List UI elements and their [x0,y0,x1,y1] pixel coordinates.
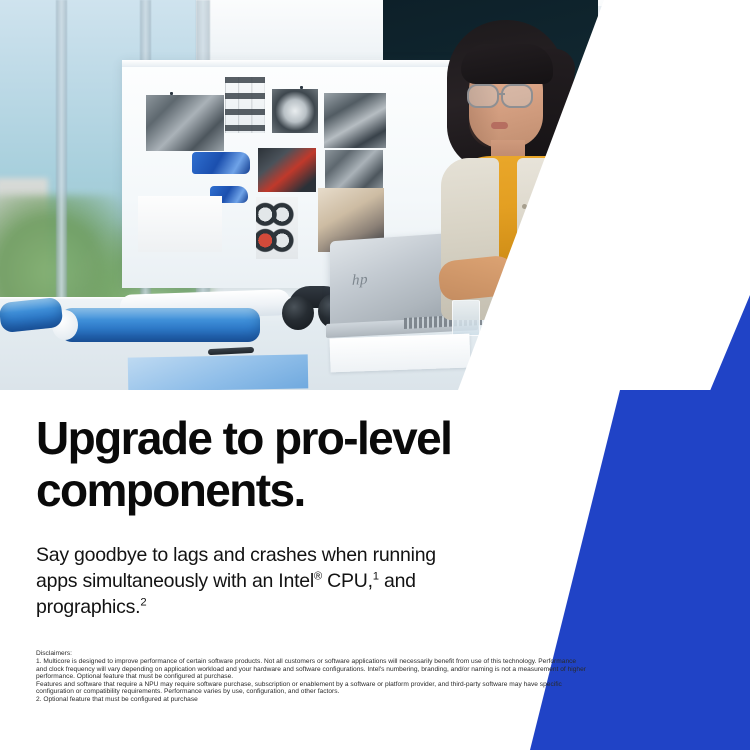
disclaimers-block: Disclaimers: 1. Multicore is designed to… [36,650,586,704]
registered-trademark-symbol: ® [314,571,322,583]
eyeglasses [501,84,533,108]
headphones [282,296,314,330]
body-copy: Say goodbye to lags and crashes when run… [36,542,436,620]
headline-line-2: components. [36,464,305,516]
paper-sheet [329,334,470,373]
eyeglasses [467,84,499,108]
hair-fringe [461,44,553,84]
sketch-chassis [146,95,224,151]
blueprint-sheet [128,354,309,390]
disclaimer-item-1: 1. Multicore is designed to improve perf… [36,658,586,681]
pin [170,92,173,95]
eyeglasses-bridge [499,93,505,95]
glass-tumbler [452,300,480,336]
disclaimers-title: Disclaimers: [36,650,586,658]
copy-block: Upgrade to pro-level components. Say goo… [36,412,516,620]
sketch-engine [324,93,386,148]
sketch-red-detail [258,148,316,192]
sketch-tyres [256,197,298,259]
disclaimer-item-1b: Features and software that require a NPU… [36,681,586,696]
sketch-blue-car [192,152,250,174]
footnote-ref-2: 2 [140,597,146,609]
headline-line-1: Upgrade to pro-level [36,412,451,464]
sketch-parts-sheet [225,77,265,133]
page-title: Upgrade to pro-level components. [36,412,516,516]
disclaimer-item-2: 2. Optional feature that must be configu… [36,696,586,704]
sketch-car-render [138,196,222,252]
sketch-wheel [272,89,318,133]
body-line-1: Say goodbye to lags and crashes when [36,544,367,566]
hero-photo: hp [0,0,750,390]
lips [491,122,508,129]
hp-logo: hp [352,271,376,290]
body-line-3: CPU, [327,570,373,592]
rolled-blueprint [60,308,260,342]
pin [300,86,303,89]
ad-page: hp [0,0,750,750]
